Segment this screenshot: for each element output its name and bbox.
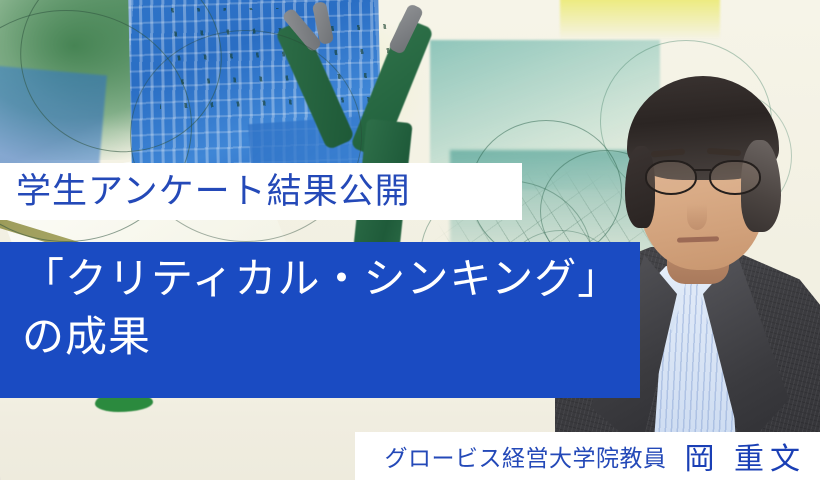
eyeglasses-icon [643,160,761,194]
eyeglass-lens-right [709,160,761,195]
title-line-2: の成果 [22,316,151,361]
byline-bar: グロービス経営大学院教員 岡 重文 [355,432,820,480]
byline-name: 岡 重文 [685,434,807,478]
nose [687,204,707,230]
kicker-text: 学生アンケート結果公開 [16,174,411,209]
kicker-bar: 学生アンケート結果公開 [0,163,522,220]
title-line-1: 「クリティカル・シンキング」 [22,258,620,303]
eyeglass-bridge [693,169,711,171]
eyeglass-lens-left [645,160,697,195]
byline-affiliation: グロービス経営大学院教員 [385,439,667,473]
article-hero-banner: 学生アンケート結果公開 「クリティカル・シンキング」 の成果 グロービス経営大学… [0,0,820,480]
speaker-portrait-photo [555,0,820,480]
title-box: 「クリティカル・シンキング」 の成果 [0,242,640,398]
